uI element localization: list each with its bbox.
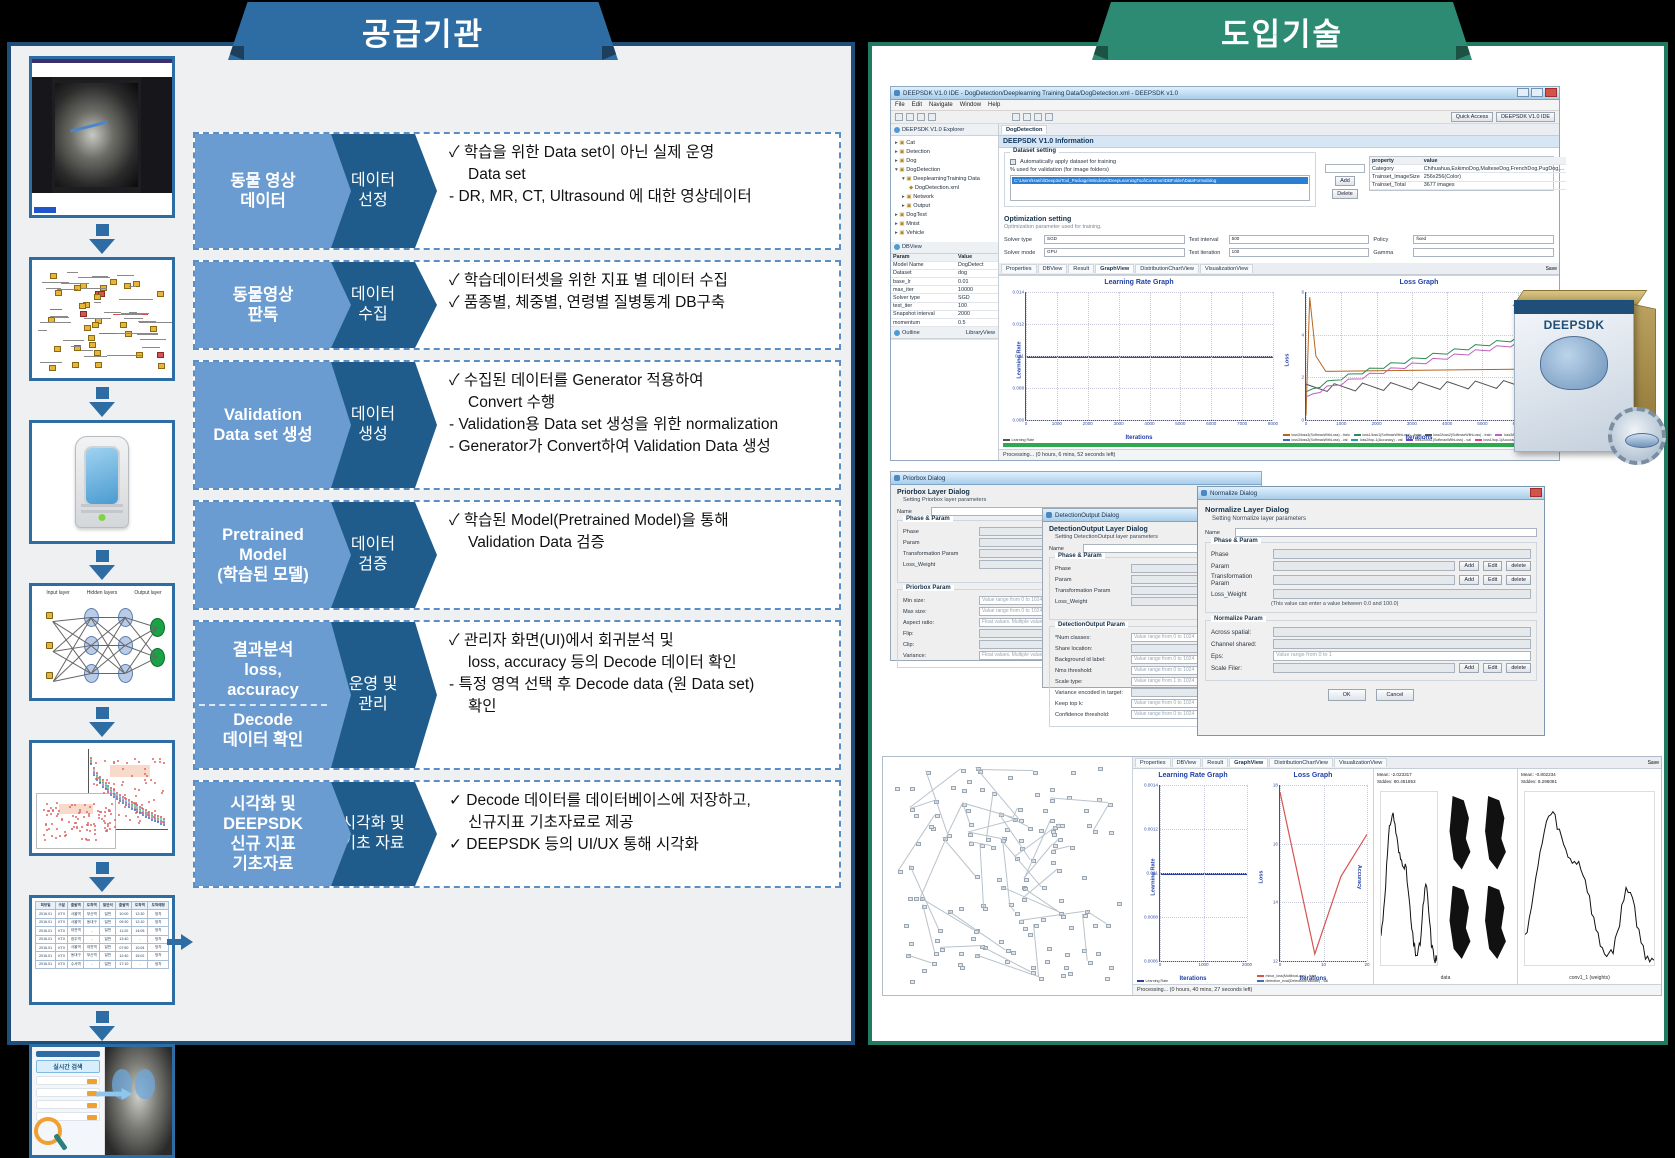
y-tick: 0.001 [1147, 871, 1159, 876]
table-row: 2016.01KTX수서역-일반17:10-정차 [36, 960, 169, 968]
description-line: ✓ 학습을 위한 Data set이 아닌 실제 운영 [449, 142, 831, 164]
field-label: Loss_Weight [1211, 591, 1269, 598]
scatter-point [68, 821, 70, 823]
table-row: 2016.01KTX동대구부산역일반12:4015:02정차 [36, 952, 169, 960]
lr-ylabel: Learning Rate [1017, 341, 1023, 378]
minimize-button[interactable] [1517, 88, 1529, 97]
scatter-point [72, 815, 74, 817]
add-button[interactable]: Add [1459, 575, 1479, 585]
dbview-cell: Param [891, 254, 956, 262]
loss-chart-2: Loss Graph Loss 1816141201020 Accuracy I… [1253, 769, 1373, 984]
scatter-point [76, 826, 78, 828]
table-cell: 14:05 [132, 927, 148, 935]
curve-point [151, 819, 153, 821]
delete-button[interactable]: delete [1506, 575, 1531, 585]
scatter-point [94, 833, 96, 835]
y-tick: 4 [1301, 332, 1304, 337]
dialog-field-row[interactable]: Transformation ParamAddEditdelete [1211, 573, 1531, 587]
scatter-point [79, 830, 81, 832]
dbview-cell: Value [956, 254, 998, 262]
field-input[interactable]: Value range from 0 to 1 [1273, 651, 1531, 661]
edit-button[interactable]: Edit [1483, 575, 1502, 585]
topology-node [929, 825, 934, 829]
field-input[interactable] [1273, 589, 1531, 599]
scatter-point [69, 806, 71, 808]
dialog-field-row[interactable]: Phase [1211, 549, 1531, 559]
field-input[interactable] [1273, 663, 1455, 673]
view-tab-row[interactable]: PropertiesDBViewResultGraphViewDistribut… [999, 263, 1559, 275]
dbview-row: momentum0.5 [891, 319, 998, 327]
ide-menu-bar[interactable]: FileEditNavigateWindowHelp [891, 100, 1559, 111]
field-label: Loss_Weight [1055, 599, 1127, 605]
normalize-name-input[interactable] [1235, 528, 1537, 537]
y-tick: 14 [1273, 900, 1278, 905]
table-header-cell: 일반석 [100, 902, 116, 910]
bottom-composite-window[interactable]: PropertiesDBViewResultGraphViewDistribut… [882, 756, 1662, 996]
property-cell: Trainset_ImageSize [1370, 173, 1422, 181]
tree-item-dogdetection-xml[interactable]: ◆ DogDetection.xml [893, 184, 996, 193]
ide-toolbar[interactable]: Quick Access DEEPSDK V1.0 IDE [891, 111, 1559, 124]
y-tick: 0.0006 [1144, 959, 1158, 964]
dbview-row: max_iter10000 [891, 286, 998, 294]
folder-icon: ▣ [899, 149, 904, 155]
flow-arrow-5 [23, 862, 181, 892]
close-button[interactable] [1545, 88, 1557, 97]
topology-node [1022, 898, 1027, 902]
folder-icon: ▣ [906, 176, 911, 182]
cancel-button[interactable]: Cancel [1376, 689, 1415, 701]
normalize-name-row[interactable]: Name [1205, 528, 1537, 537]
topology-node [1060, 824, 1065, 828]
edit-button[interactable]: Edit [1483, 663, 1502, 673]
dbview-row: Datasetdog [891, 269, 998, 277]
table-cell: 서울역 [68, 910, 84, 918]
description-line: 확인 [449, 696, 831, 718]
topology-node [1058, 838, 1063, 842]
tree-item-vehicle[interactable]: ▣ Vehicle [893, 229, 996, 238]
back-icon [1034, 113, 1042, 121]
view-tab-dbview[interactable]: DBView [1038, 264, 1068, 273]
visualization-view: Mean: -2.023317 Stddev: 80.451853 data [1373, 769, 1661, 984]
graph-edge [54, 317, 62, 318]
scatter-point [86, 829, 88, 831]
ok-button[interactable]: OK [1328, 689, 1366, 701]
edit-button[interactable]: Edit [1483, 561, 1502, 571]
field-input[interactable] [1273, 575, 1455, 585]
scatter-point [144, 768, 146, 770]
topology-node [1061, 974, 1066, 978]
add-button[interactable]: Add [1459, 663, 1479, 673]
normalize-close-button[interactable] [1530, 488, 1542, 497]
property-row: Trainset_ImageSize256x256(Color) [1370, 173, 1566, 181]
topology-node [1050, 788, 1055, 792]
dialog-field-row[interactable]: Channel shared: [1211, 639, 1531, 649]
dialog-field-row[interactable]: Scale Filer:AddEditdelete [1211, 663, 1531, 673]
dbview-title: DBView [902, 244, 922, 250]
outline-icon [894, 330, 900, 336]
opt-input[interactable] [1413, 248, 1554, 257]
run-icon [1023, 113, 1031, 121]
curve-point [134, 809, 136, 811]
normalize-header: Normalize Layer Dialog [1205, 505, 1537, 514]
topology-node [1034, 924, 1039, 928]
table-cell: 일반 [100, 918, 116, 926]
graph-edge [94, 302, 101, 303]
add-button[interactable]: Add [1335, 176, 1355, 186]
topology-node [1018, 808, 1023, 812]
opt-input[interactable]: SGD [1044, 235, 1185, 244]
bottom-view-tab-row[interactable]: PropertiesDBViewResultGraphViewDistribut… [1133, 757, 1661, 769]
property-header-row: propertyvalue [1370, 157, 1566, 165]
topology-node [1011, 951, 1016, 955]
auto-apply-row[interactable]: Automatically apply dataset for training [1010, 159, 1310, 165]
view-tab-distributionchartview[interactable]: DistributionChartView [1135, 264, 1199, 273]
menu-item-window[interactable]: Window [960, 102, 981, 108]
table-cell: KTX [56, 927, 68, 935]
table-cell: 12:30 [132, 910, 148, 918]
topology-node [959, 952, 964, 956]
viz1-stddev: Stddev: 80.451853 [1377, 779, 1514, 786]
curve-point [90, 763, 92, 765]
explorer-pane-header[interactable]: DEEPSDK V1.0 Explorer [891, 124, 998, 136]
menu-item-edit[interactable]: Edit [912, 102, 922, 108]
view-tab-dbview[interactable]: DBView [1172, 758, 1202, 767]
topology-node [1043, 809, 1048, 813]
scatter-point [73, 826, 75, 828]
table-header-cell: 도착역 [84, 902, 100, 910]
graph-edge [57, 289, 79, 290]
property-header-cell: value [1422, 157, 1567, 165]
training-progress-bar [1003, 443, 1555, 447]
graph-edge [147, 333, 158, 334]
view-tab-graphview[interactable]: GraphView [1229, 758, 1268, 767]
opt-input[interactable]: fixed [1413, 235, 1554, 244]
tree-item-detection[interactable]: ▣ Detection [893, 148, 996, 157]
dbview-cell: 100 [956, 302, 998, 310]
topology-node [1028, 933, 1033, 937]
save-link[interactable]: Save [1648, 760, 1659, 766]
graph-node [55, 290, 62, 296]
dbview-cell: 2000 [956, 310, 998, 318]
process-row: 동물영상판독데이터수집✓ 학습데이터셋을 위한 지표 별 데이터 수집✓ 품종별… [193, 260, 841, 350]
field-label: Param [1055, 577, 1127, 583]
gridline [1160, 785, 1161, 961]
scatter-point [77, 818, 79, 820]
graph-edge [78, 277, 110, 278]
tree-item-mnist[interactable]: ▣ Mnist [893, 220, 996, 229]
scatter-point [114, 819, 116, 821]
dbview-row: Model NameDogDetect [891, 261, 998, 269]
histogram-curve [1525, 792, 1654, 965]
opt-input[interactable]: GPU [1044, 248, 1185, 257]
folder-icon: ▣ [899, 221, 904, 227]
menu-item-help[interactable]: Help [988, 102, 1000, 108]
description-line: loss, accuracy 등의 Decode 데이터 확인 [449, 652, 831, 674]
field-label: Param [903, 540, 975, 546]
device-thumbnail [29, 420, 175, 544]
scatter-point [93, 783, 95, 785]
network-topology-view[interactable] [883, 757, 1133, 995]
window-controls[interactable] [1517, 88, 1557, 97]
histogram-curve [1381, 792, 1437, 965]
scatter-point [94, 829, 96, 831]
editor-tab-row[interactable]: DogDetection [999, 124, 1559, 136]
topology-node [1057, 869, 1062, 873]
legend-entry: loss2/top-1(Accuracy) - val [1351, 438, 1402, 442]
topology-edge [920, 834, 948, 898]
graph-edge [107, 355, 141, 356]
topology-node [1065, 953, 1070, 957]
gridline [1247, 785, 1248, 961]
table-cell: 일반 [100, 935, 116, 943]
scatter-point [137, 816, 139, 818]
tree-item-deeplearningtraining-data[interactable]: ▣ DeeplearningTraining Data [893, 175, 996, 184]
dialog-field-row[interactable]: Eps:Value range from 0 to 1 [1211, 651, 1531, 661]
legend-entry: loss3/loss3(SoftmaxWithLoss) - train [1283, 433, 1350, 437]
flow-arrow-6 [23, 1011, 181, 1041]
table-cell: 부산역 [84, 952, 100, 960]
curve-point [163, 824, 165, 826]
histogram-2 [1524, 791, 1655, 966]
dialog-field-row[interactable]: Loss_Weight [1211, 589, 1531, 599]
learning-rate-chart-2: Learning Rate Graph Learning Rate 0.0014… [1133, 769, 1253, 984]
table-header-row: 희망일구분출발역도착역일반석출발역도착역도착예정 [36, 902, 169, 910]
graph-node [49, 365, 56, 371]
do-group2-label: DetectionOutput Param [1055, 622, 1128, 628]
viz1-caption: data [1374, 975, 1517, 981]
deepsdk-ide-window[interactable]: DEEPSDK V1.0 IDE - DogDetection/Deeplear… [890, 86, 1560, 461]
scatter-point [96, 784, 98, 786]
stage-divider [199, 704, 327, 706]
bottom-status-bar: Processing... (0 hours, 40 mins, 27 seco… [1133, 984, 1661, 995]
priorbox-group1-label: Phase & Param [903, 516, 953, 522]
view-tab-result[interactable]: Result [1068, 264, 1094, 273]
add-button[interactable]: Add [1459, 561, 1479, 571]
dbview-pane-header[interactable]: DBView [891, 242, 998, 254]
scatter-point [58, 810, 60, 812]
slide-root: Input layer Hidden layers Output layer [0, 0, 1675, 1052]
normalize-dialog[interactable]: Normalize Dialog Normalize Layer Dialog … [1197, 486, 1545, 736]
property-row: Trainset_Total3677 images [1370, 181, 1566, 189]
description-line: - Generator가 Convert하여 Validation Data 생… [449, 436, 831, 458]
property-cell: 256x256(Color) [1422, 173, 1567, 181]
opt-input[interactable]: 100 [1229, 248, 1370, 257]
y-tick: 18 [1273, 783, 1278, 788]
field-input[interactable] [1273, 639, 1531, 649]
normalize-group2-label: Normalize Param [1211, 616, 1266, 622]
graph-edge [129, 286, 136, 287]
regression-chart-thumbnail [29, 740, 175, 856]
opt-input[interactable]: 500 [1229, 235, 1370, 244]
table-cell: 2016.01 [36, 918, 56, 926]
view-tab-graphview[interactable]: GraphView [1095, 264, 1134, 273]
opt-label: Test iteration [1189, 250, 1225, 256]
topology-node [947, 834, 952, 838]
field-label: Transformation Param [1055, 588, 1127, 594]
topology-edge [1082, 914, 1087, 960]
scatter-point [153, 816, 155, 818]
tree-item-dogdetection[interactable]: ▣ DogDetection [893, 166, 996, 175]
opt-label: Solver type [1004, 237, 1040, 243]
menu-item-file[interactable]: File [895, 102, 905, 108]
flow-arrow-3 [23, 550, 181, 580]
process-stage-input: ValidationData set 생성 [195, 362, 331, 488]
dataset-path-value[interactable]: C:\Users\Hanhi\Deep3xiTool_Package\Windo… [1012, 177, 1308, 184]
view-tab-distributionchartview[interactable]: DistributionChartView [1269, 758, 1333, 767]
x-tick: 8000 [1268, 421, 1278, 426]
topology-node [1041, 918, 1046, 922]
gridline [1204, 785, 1205, 961]
table-cell: 2016.01 [36, 960, 56, 968]
graph-edge [84, 318, 111, 319]
mobile-app-thumbnail: 실시간 검색 [29, 1044, 175, 1158]
dbview-cell: dog [956, 269, 998, 277]
tree-item-cat[interactable]: ▣ Cat [893, 139, 996, 148]
gridline [1026, 292, 1027, 420]
quick-access-box[interactable]: Quick Access [1451, 112, 1493, 122]
tree-item-dogtest[interactable]: ▣ DogTest [893, 211, 996, 220]
delete-button[interactable]: delete [1506, 663, 1531, 673]
flow-arrow-4 [23, 707, 181, 737]
x-tick: 0 [1305, 421, 1308, 426]
graph-edge [117, 275, 134, 276]
description-line: ✓ 학습데이터셋을 위한 지표 별 데이터 수집 [449, 270, 831, 292]
viz2-caption: conv1_1 (weights) [1518, 975, 1661, 981]
process-row: PretrainedModel(학습된 모델)데이터검증✓ 학습된 Model(… [193, 500, 841, 610]
libraryview-title[interactable]: LibraryView [966, 330, 995, 336]
topology-node [991, 846, 996, 850]
view-tab-properties[interactable]: Properties [1001, 264, 1037, 273]
topology-node [980, 788, 985, 792]
dialog-field-row[interactable]: Across spatial: [1211, 627, 1531, 637]
tree-item-network[interactable]: ▣ Network [893, 193, 996, 202]
maximize-button[interactable] [1531, 88, 1543, 97]
process-rows: 동물 영상데이터데이터선정✓ 학습을 위한 Data set이 아닌 실제 운영… [193, 132, 841, 898]
topology-node [981, 904, 986, 908]
topology-node [1093, 924, 1098, 928]
table-cell: 대전역 [68, 927, 84, 935]
opt-label: Test interval [1189, 237, 1225, 243]
explorer-title: DEEPSDK V1.0 Explorer [902, 127, 964, 133]
gridline [1242, 292, 1243, 420]
scatter-point [122, 781, 124, 783]
delete-button[interactable]: delete [1506, 561, 1531, 571]
scatter-point [134, 788, 136, 790]
tree-item-output[interactable]: ▣ Output [893, 202, 996, 211]
curve-point [148, 817, 150, 819]
process-description: ✓ 학습을 위한 Data set이 아닌 실제 운영Data set- DR,… [415, 134, 839, 248]
field-input[interactable] [1273, 549, 1531, 559]
tree-item-dog[interactable]: ▣ Dog [893, 157, 996, 166]
save-link[interactable]: Save [1546, 266, 1557, 272]
table-cell: 정차 [148, 927, 169, 935]
graph-node [88, 335, 95, 341]
optimization-fields[interactable]: Solver typeSGDTest interval500Policyfixe… [999, 233, 1559, 263]
topology-edge [980, 844, 984, 907]
graph-edge [41, 322, 55, 323]
dbview-row: base_lr0.01 [891, 278, 998, 286]
topology-node [898, 870, 903, 874]
table-cell: 수서역 [68, 960, 84, 968]
folder-icon: ▣ [899, 167, 904, 173]
scatter-point [95, 778, 97, 780]
view-tab-visualizationview[interactable]: VisualizationView [1200, 264, 1253, 273]
scatter-point [55, 837, 57, 839]
scatter-point [134, 758, 136, 760]
scatter-point [118, 802, 120, 804]
scatter-point [104, 811, 106, 813]
project-tree[interactable]: ▣ Cat▣ Detection▣ Dog▣ DogDetection▣ Dee… [891, 136, 998, 242]
topology-node [934, 952, 939, 956]
topology-node [910, 787, 915, 791]
view-tab-properties[interactable]: Properties [1135, 758, 1171, 767]
dialog-field-row[interactable]: ParamAddEditdelete [1211, 561, 1531, 571]
topology-edge [975, 954, 1039, 977]
field-label: Phase [1055, 566, 1127, 572]
graph-edge [119, 299, 152, 300]
x-tick: 5000 [1175, 421, 1185, 426]
x-tick: 3000 [1114, 421, 1124, 426]
topology-node [910, 980, 915, 984]
scatter-point [135, 795, 137, 797]
topology-node [999, 940, 1004, 944]
topology-node [1051, 850, 1056, 854]
property-cell: Trainset_Total [1370, 181, 1422, 189]
table-cell: 광주역 [68, 935, 84, 943]
lr-legend: Learning Rate [1003, 438, 1275, 442]
x-tick: 0 [1279, 962, 1282, 967]
loss2-legend: mbox_loss(MultiboxLoss) - traindetection… [1257, 974, 1369, 983]
delete-button[interactable]: Delete [1332, 189, 1358, 199]
table-cell: KTX [56, 910, 68, 918]
scatter-point [122, 768, 124, 770]
priorbox-name-label: Name [897, 509, 927, 515]
scatter-point [59, 835, 61, 837]
view-tab-visualizationview[interactable]: VisualizationView [1334, 758, 1387, 767]
y-tick: 16 [1273, 841, 1278, 846]
view-tab-result[interactable]: Result [1202, 758, 1228, 767]
legend-entry: loss3/loss3(SoftmaxWithLoss) - val [1283, 438, 1347, 442]
normalize-group1-label: Phase & Param [1211, 538, 1261, 544]
scatter-point [162, 821, 164, 823]
auto-apply-checkbox[interactable] [1010, 159, 1016, 165]
outline-pane-header[interactable]: Outline LibraryView [891, 327, 998, 339]
x-tick: 3000 [1407, 421, 1417, 426]
tab-dogdetection[interactable]: DogDetection [1001, 125, 1047, 134]
field-input[interactable] [1273, 627, 1531, 637]
graph-node [120, 322, 127, 328]
menu-item-navigate[interactable]: Navigate [929, 102, 953, 108]
topology-node [1052, 833, 1057, 837]
normalize-window-controls[interactable] [1530, 488, 1542, 497]
topology-node [1088, 961, 1093, 965]
table-cell: 10:00 [116, 910, 132, 918]
topology-node [1031, 966, 1036, 970]
nn-node [46, 672, 53, 679]
perspective-button[interactable]: DEEPSDK V1.0 IDE [1496, 112, 1555, 122]
field-input[interactable] [1273, 561, 1455, 571]
topology-edge [922, 904, 934, 952]
dialog-icon [894, 475, 900, 481]
curve-point [145, 816, 147, 818]
scatter-point [43, 834, 45, 836]
legend-entry: loss1/loss1(SoftmaxWithLoss) - train [1354, 433, 1421, 437]
graph-node [84, 325, 91, 331]
path-input[interactable] [1325, 164, 1365, 173]
curve-point [154, 820, 156, 822]
field-label: Variance encoded in target: [1055, 690, 1127, 696]
scatter-point [152, 758, 154, 760]
